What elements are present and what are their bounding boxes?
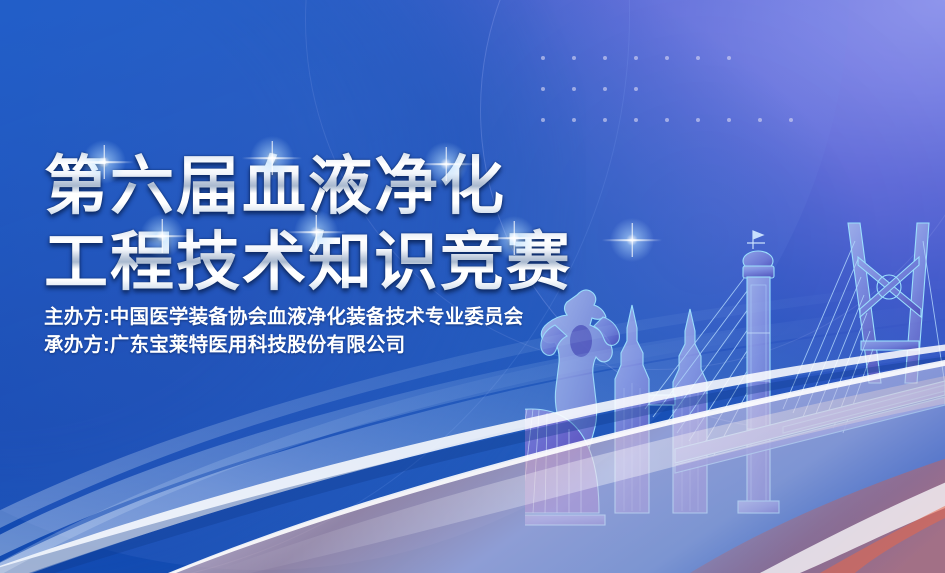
- headline-line-2: 工程技术知识竞赛: [44, 226, 684, 298]
- dot: [541, 87, 545, 91]
- dot: [541, 118, 545, 122]
- dot: [603, 87, 607, 91]
- domed-tower: [738, 231, 779, 513]
- dot-grid-row: [541, 118, 793, 122]
- dot-grid-row: [541, 56, 793, 60]
- dot: [572, 87, 576, 91]
- dot: [696, 56, 700, 60]
- dot: [665, 56, 669, 60]
- dot-grid-decoration: [541, 56, 793, 149]
- dot: [634, 118, 638, 122]
- organizer-info: 主办方:中国医学装备协会血液净化装备技术专业委员会 承办方:广东宝莱特医用科技股…: [44, 303, 724, 359]
- dot: [572, 118, 576, 122]
- co-organizer-line: 承办方:广东宝莱特医用科技股份有限公司: [44, 331, 724, 359]
- dot: [727, 118, 731, 122]
- headline-line-1: 第六届血液净化: [44, 150, 684, 222]
- dot: [572, 56, 576, 60]
- dot: [603, 118, 607, 122]
- dot: [789, 118, 793, 122]
- dot: [603, 56, 607, 60]
- bridge-pylon-right: [848, 223, 929, 383]
- event-banner: 第六届血液净化 工程技术知识竞赛 主办方:中国医学装备协会血液净化装备技术专业委…: [0, 0, 945, 573]
- dot: [696, 118, 700, 122]
- organizer-line: 主办方:中国医学装备协会血液净化装备技术专业委员会: [44, 303, 724, 331]
- dot: [634, 87, 638, 91]
- dot: [665, 118, 669, 122]
- bridge-deck: [675, 381, 945, 473]
- dot: [541, 56, 545, 60]
- dot-grid-row: [541, 87, 793, 91]
- page-title: 第六届血液净化 工程技术知识竞赛: [44, 150, 684, 298]
- dot: [727, 56, 731, 60]
- dot: [634, 56, 638, 60]
- dot: [758, 118, 762, 122]
